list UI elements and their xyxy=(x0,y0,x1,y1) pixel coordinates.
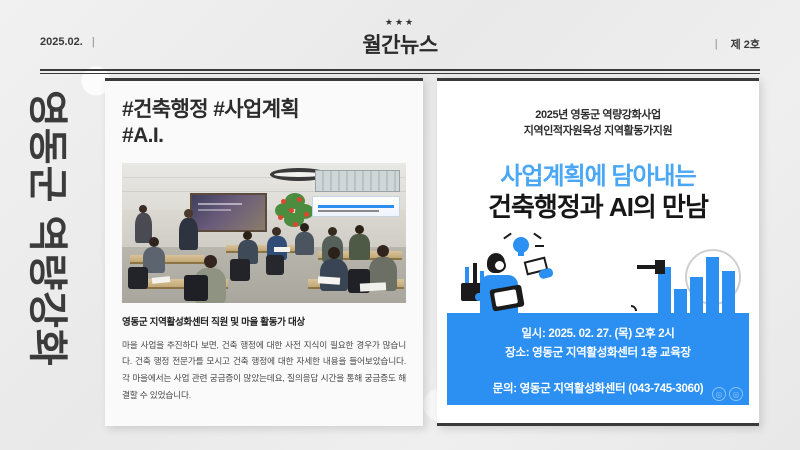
photo-chair-3 xyxy=(230,259,250,281)
poster-contact-bar: 문의: 영동군 지역활성화센터 (043-745-3060) xyxy=(447,371,749,405)
photo-projection-screen xyxy=(190,193,267,232)
vertical-section-title: 영동군 역량강화 xyxy=(18,86,88,436)
article-card[interactable]: #건축행정 #사업계획 #A.I. xyxy=(105,78,423,426)
masthead-issue-group: | 제 2호 xyxy=(715,36,760,52)
illus-bar-5-icon xyxy=(722,271,735,319)
photo-presenter-body xyxy=(179,218,198,250)
photo-attendee-head-4 xyxy=(272,227,281,236)
masthead-divider-left: | xyxy=(92,36,95,48)
photo-attendee-head-7 xyxy=(355,225,364,234)
photo-attendee-head-1 xyxy=(149,237,159,247)
illus-bar-1-icon xyxy=(658,267,671,319)
article-headline: #건축행정 #사업계획 #A.I. xyxy=(122,97,406,150)
photo-screen-text-line-1 xyxy=(198,203,242,205)
masthead-divider-right: | xyxy=(715,38,718,50)
poster-contact-text: 문의: 영동군 지역활성화센터 (043-745-3060) xyxy=(493,380,704,396)
photo-attendee-body-7 xyxy=(349,234,370,260)
poster-logo-mark-2: ◎ xyxy=(729,387,743,401)
photo-staff-head xyxy=(139,205,147,213)
masthead: ★★★ 월간뉴스 2025.02. | | 제 2호 xyxy=(40,18,760,70)
photo-tree-fruit-1 xyxy=(281,199,286,204)
poster-logo-mark-1: ◎ xyxy=(712,387,726,401)
article-body-text: 마을 사업을 추진하다 보면, 건축 행정에 대한 사전 지식이 필요한 경우가… xyxy=(122,337,406,405)
illus-pen-1-icon xyxy=(465,267,469,283)
poster-event-location: 장소: 영동군 지역활성화센터 1층 교육장 xyxy=(505,344,691,360)
photo-desk-row-1 xyxy=(130,255,204,264)
photo-paper-1 xyxy=(152,276,171,284)
photo-tree-fruit-6 xyxy=(293,222,298,227)
illus-idea-spark-2-icon xyxy=(535,245,544,247)
masthead-date-group: 2025.02. | xyxy=(40,36,95,48)
illus-idea-bulb-icon xyxy=(513,237,529,253)
poster-event-datetime: 일시: 2025. 02. 27. (목) 오후 2시 xyxy=(521,325,674,341)
photo-attendee-head-5 xyxy=(300,223,309,232)
photo-banner-sub-bar xyxy=(318,210,378,212)
photo-attendee-head-6 xyxy=(328,227,337,236)
photo-tree-fruit-2 xyxy=(297,197,302,202)
photo-screen-text-line-2 xyxy=(198,209,231,211)
photo-paper-4 xyxy=(274,247,290,252)
illus-idea-spark-3-icon xyxy=(503,233,512,240)
photo-chair-4 xyxy=(266,255,284,275)
illus-person-face-icon xyxy=(493,259,506,272)
masthead-double-rule xyxy=(40,69,760,74)
photo-attendee-head-2 xyxy=(204,255,217,268)
poster-logo-group: ◎ ◎ xyxy=(712,387,743,401)
masthead-stars-ornament: ★★★ xyxy=(40,18,760,27)
photo-presenter-head xyxy=(184,209,193,218)
illus-idea-spark-1-icon xyxy=(533,233,542,240)
photo-tree-fruit-4 xyxy=(304,212,309,217)
issue-number: 제 2호 xyxy=(731,36,760,52)
poster-event-details: 일시: 2025. 02. 27. (목) 오후 2시 장소: 영동군 지역활성… xyxy=(447,313,749,371)
photo-chair-1 xyxy=(128,267,148,289)
poster-eyebrow-line-1: 2025년 영동군 역량강화사업 xyxy=(535,109,660,121)
photo-attendee-head-8 xyxy=(328,247,340,259)
photo-event-banner xyxy=(312,196,400,217)
photo-attendee-body-5 xyxy=(295,232,314,255)
photo-attendee-head-3 xyxy=(243,231,252,240)
poster-title-blue: 사업계획에 담아내는 xyxy=(447,156,749,191)
illus-bar-4-icon xyxy=(706,257,719,319)
article-headline-line-2: #A.I. xyxy=(122,124,163,147)
photo-paper-3 xyxy=(360,282,386,291)
poster-eyebrow: 2025년 영동군 역량강화사업 지역인적자원육성 지역활동가지원 xyxy=(447,108,749,140)
photo-attendee-head-9 xyxy=(377,245,389,257)
photo-tree-fruit-3 xyxy=(289,208,294,213)
illus-person-arm-icon xyxy=(475,293,489,301)
photo-attendee-body-8 xyxy=(320,259,348,291)
photo-banner-title-bar xyxy=(318,205,394,208)
illus-idea-bulb-base-icon xyxy=(518,252,524,256)
illus-pen-2-icon xyxy=(473,263,477,283)
poster-eyebrow-line-2: 지역인적자원육성 지역활동가지원 xyxy=(524,125,672,137)
article-headline-line-1: #건축행정 #사업계획 xyxy=(122,98,299,121)
illus-hand-icon xyxy=(538,267,554,279)
illus-trend-arrow-head-icon xyxy=(655,260,665,274)
page-title: 월간뉴스 xyxy=(40,29,760,59)
photo-tree-fruit-5 xyxy=(278,215,283,220)
poster-title-black: 건축행정과 AI의 만남 xyxy=(447,187,749,224)
article-photo-caption: 영동군 지역활성화센터 직원 및 마을 활동가 대상 xyxy=(122,314,406,328)
vertical-section-title-text: 영동군 역량강화 xyxy=(22,90,80,367)
article-photo xyxy=(122,163,406,303)
poster-card[interactable]: 2025년 영동군 역량강화사업 지역인적자원육성 지역활동가지원 사업계획에 … xyxy=(437,78,759,426)
issue-date: 2025.02. xyxy=(40,36,83,48)
poster-image: 2025년 영동군 역량강화사업 지역인적자원육성 지역활동가지원 사업계획에 … xyxy=(447,91,749,413)
photo-window xyxy=(315,170,400,192)
photo-paper-2 xyxy=(318,276,340,285)
photo-chair-2 xyxy=(184,275,208,301)
